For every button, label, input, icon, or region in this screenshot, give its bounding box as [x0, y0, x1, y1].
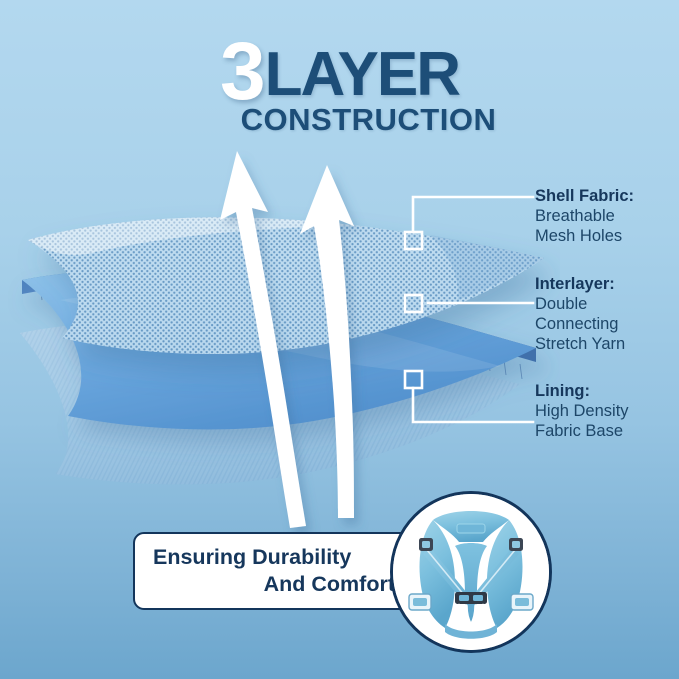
callout-lining-line-2: Fabric Base	[535, 421, 679, 441]
callout-lining: Lining: High Density Fabric Base	[535, 381, 679, 441]
callout-marker-lining	[405, 371, 422, 388]
callout-shell-line-2: Mesh Holes	[535, 226, 679, 246]
tagline-line-2: And Comfort	[264, 571, 395, 598]
dog-harness-photo	[393, 494, 549, 650]
callout-lining-line-1: High Density	[535, 401, 679, 421]
callout-lining-title: Lining:	[535, 381, 679, 401]
product-photo-circle	[390, 491, 552, 653]
callout-interlayer-line-1: Double	[535, 294, 679, 314]
tagline-banner: Ensuring Durability And Comfort	[133, 532, 413, 610]
callout-interlayer-line-3: Stretch Yarn	[535, 334, 679, 354]
callout-marker-shell	[405, 232, 422, 249]
connector-line-lining	[413, 388, 533, 422]
callout-interlayer-title: Interlayer:	[535, 274, 679, 294]
infographic-canvas: 3 LAYER CONSTRUCTION	[0, 0, 679, 679]
tagline-line-1: Ensuring Durability	[153, 544, 351, 571]
callout-shell-line-1: Breathable	[535, 206, 679, 226]
callout-interlayer: Interlayer: Double Connecting Stretch Ya…	[535, 274, 679, 355]
connector-line-shell	[413, 197, 533, 232]
callout-shell-fabric: Shell Fabric: Breathable Mesh Holes	[535, 186, 679, 246]
callout-interlayer-line-2: Connecting	[535, 314, 679, 334]
callout-marker-interlayer	[405, 295, 422, 312]
callout-shell-title: Shell Fabric:	[535, 186, 679, 206]
